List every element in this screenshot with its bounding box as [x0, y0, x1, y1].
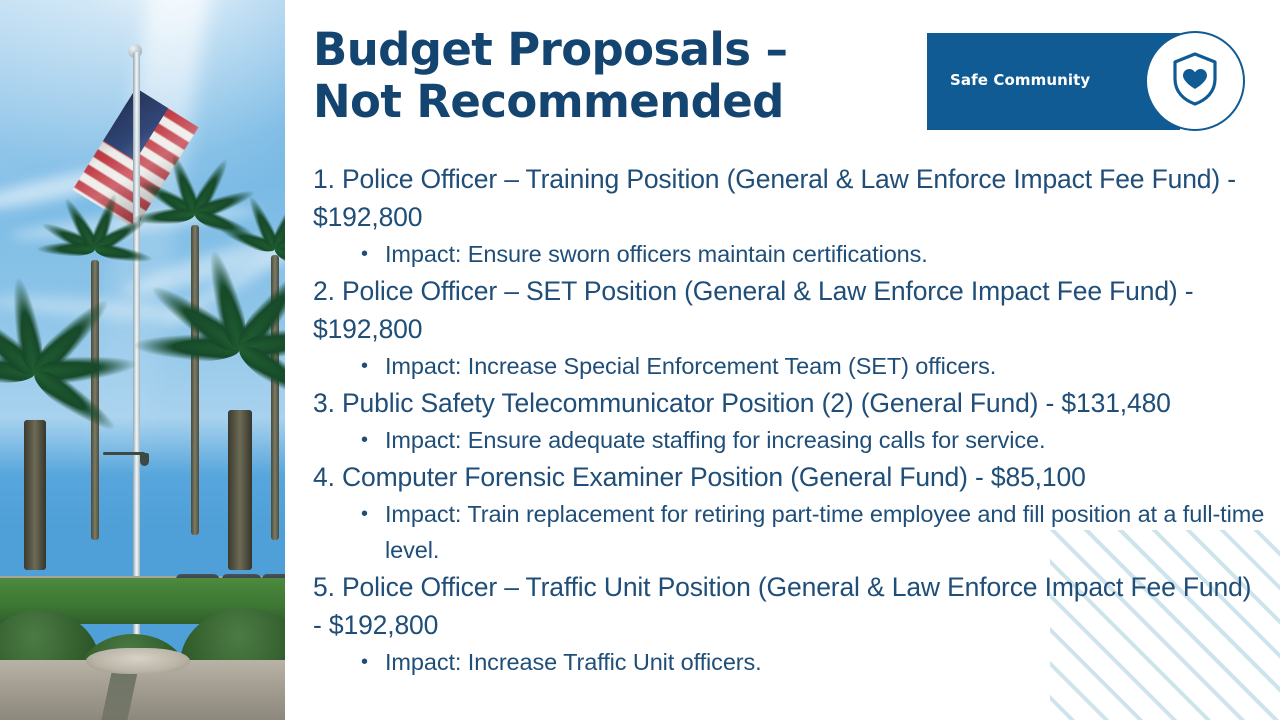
proposal-heading: 4. Computer Forensic Examiner Position (…	[313, 458, 1265, 496]
list-item: 3. Public Safety Telecommunicator Positi…	[313, 384, 1265, 458]
list-item: 2. Police Officer – SET Position (Genera…	[313, 272, 1265, 384]
shield-heart-icon	[1170, 51, 1220, 112]
page-title: Budget Proposals – Not Recommended	[313, 24, 913, 128]
proposal-list: 1. Police Officer – Training Position (G…	[313, 160, 1265, 680]
proposal-heading: 2. Police Officer – SET Position (Genera…	[313, 272, 1265, 348]
list-item: 4. Computer Forensic Examiner Position (…	[313, 458, 1265, 568]
proposal-heading: 3. Public Safety Telecommunicator Positi…	[313, 384, 1265, 422]
street-lamp	[103, 452, 145, 455]
palm-tree	[185, 320, 285, 570]
list-item: 5. Police Officer – Traffic Unit Positio…	[313, 568, 1265, 680]
proposal-impact: Impact: Ensure sworn officers maintain c…	[313, 236, 1265, 272]
proposal-heading: 1. Police Officer – Training Position (G…	[313, 160, 1265, 236]
badge-label: Safe Community	[950, 71, 1090, 89]
safe-community-badge: Safe Community	[927, 33, 1247, 130]
list-item: 1. Police Officer – Training Position (G…	[313, 160, 1265, 272]
palm-tree	[0, 340, 80, 570]
flag-photo	[0, 0, 285, 720]
flagpole-base	[86, 648, 190, 674]
proposal-impact: Impact: Ensure adequate staffing for inc…	[313, 422, 1265, 458]
proposal-impact: Impact: Increase Special Enforcement Tea…	[313, 348, 1265, 384]
proposal-impact: Impact: Train replacement for retiring p…	[313, 496, 1265, 568]
slide-canvas: Budget Proposals – Not Recommended Safe …	[0, 0, 1280, 720]
badge-circle	[1145, 31, 1245, 131]
proposal-heading: 5. Police Officer – Traffic Unit Positio…	[313, 568, 1265, 644]
proposal-impact: Impact: Increase Traffic Unit officers.	[313, 644, 1265, 680]
